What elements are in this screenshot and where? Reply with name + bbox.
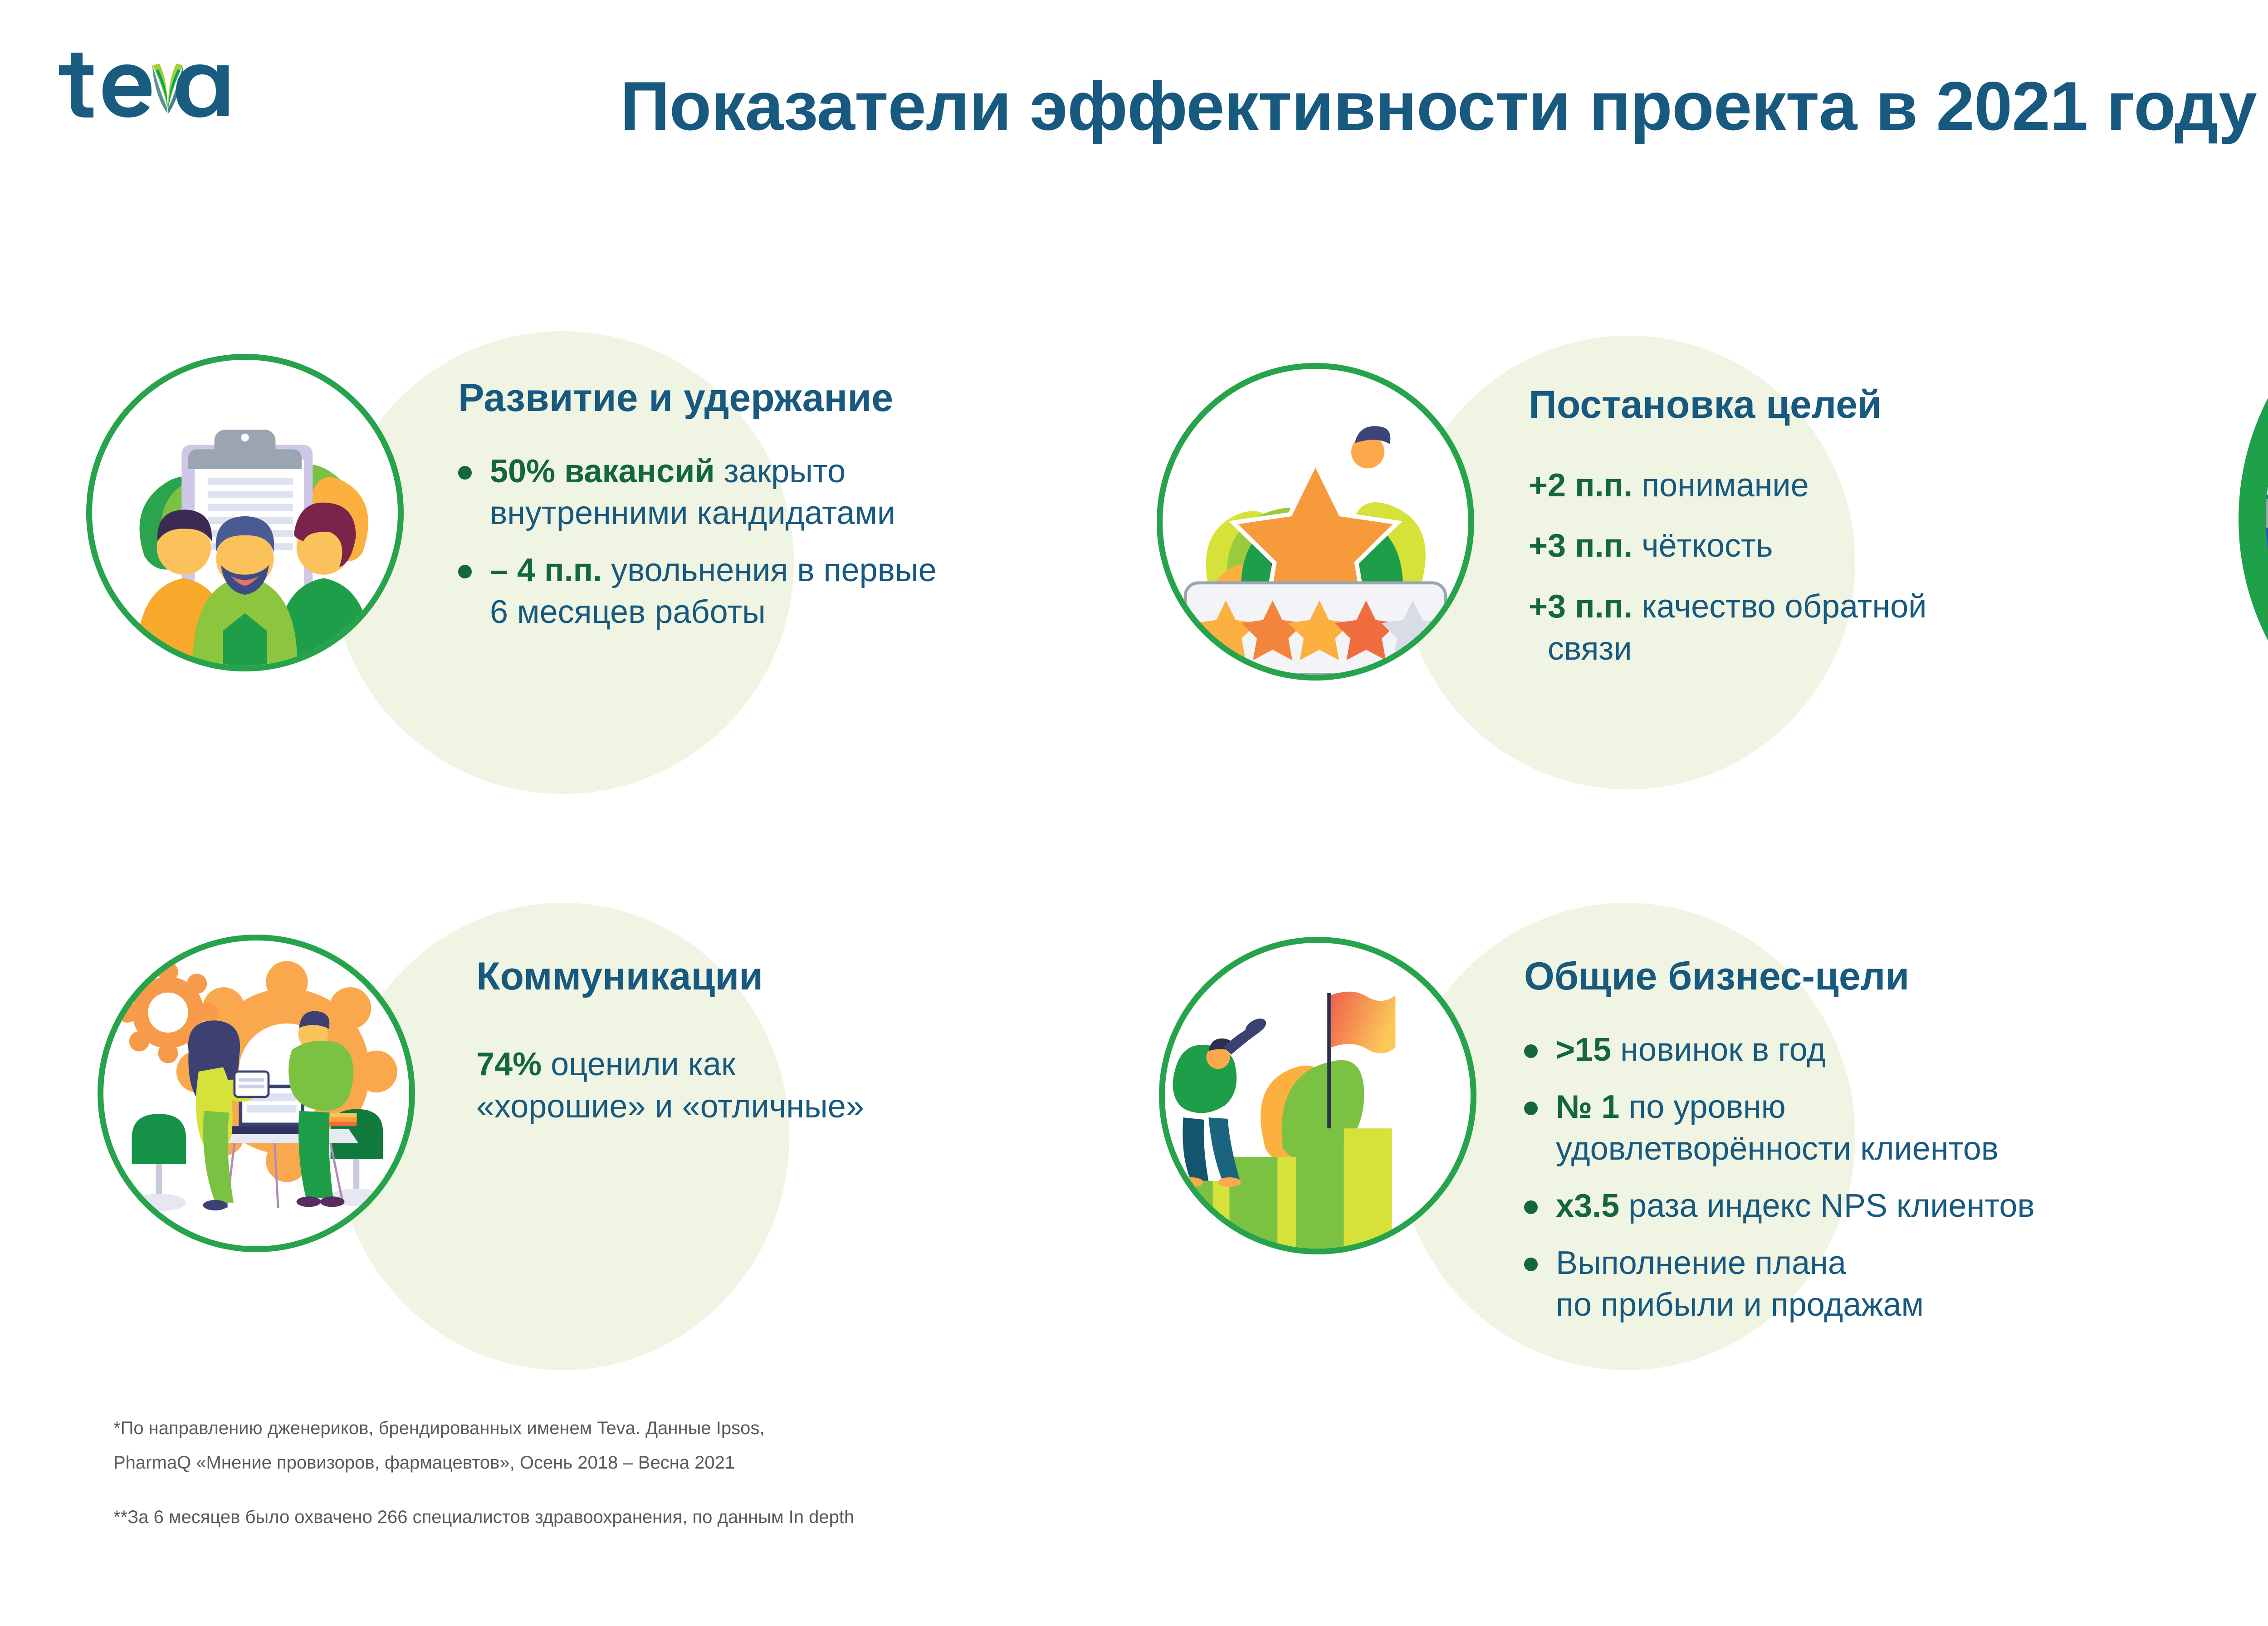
bullet-highlight: – 4 п.п.	[490, 552, 602, 588]
bullet-item: 50% вакансий закрытовнутренними кандидат…	[458, 451, 1139, 534]
metric-item: +2 п.п. понимание	[1529, 465, 2173, 507]
metric-item: 74% оценили как«хорошие» и «отличные»	[476, 1043, 1093, 1128]
bullet-highlight: >15	[1556, 1032, 1611, 1068]
bullet-highlight: № 1	[1556, 1089, 1619, 1125]
bullet-dot-icon	[1524, 1258, 1538, 1271]
bullet-dot-icon	[458, 565, 472, 578]
block-3-title: Коммуникации	[476, 955, 1093, 998]
footnote-line-2: PharmaQ «Мнение провизоров, фармацевтов»…	[113, 1445, 854, 1480]
bullet-dot-icon	[458, 466, 472, 480]
bullet-item: № 1 по уровнюудовлетворённости клиентов	[1524, 1086, 2204, 1170]
metric-rest: оценили как	[542, 1046, 735, 1082]
block-4-bullets: >15 новинок в год № 1 по уровнюудовлетво…	[1524, 1029, 2204, 1326]
bullet-line2: 6 месяцев работы	[490, 594, 766, 630]
footnote-line-1: *По направлению дженериков, брендированн…	[113, 1411, 854, 1445]
block-3-body: Коммуникации 74% оценили как«хорошие» и …	[476, 955, 1093, 1146]
footnote-line-3: **За 6 месяцев было охвачено 266 специал…	[113, 1500, 854, 1534]
block-1-body: Развитие и удержание 50% вакансий закрыт…	[458, 377, 1139, 648]
block-4-title: Общие бизнес-цели	[1524, 955, 2204, 998]
metric-line2: связи	[1529, 628, 1632, 671]
office-team-celebrating-photo	[2182, 213, 2268, 1438]
people-clipboard-icon	[86, 354, 404, 671]
metric-highlight: 74%	[476, 1046, 542, 1082]
bullet-item: x3.5 раза индекс NPS клиентов	[1524, 1185, 2204, 1227]
block-2-body: Постановка целей +2 п.п. понимание +3 п.…	[1529, 383, 2173, 689]
bullet-highlight: 50% вакансий	[490, 453, 715, 490]
telescope-growth-icon	[1159, 937, 1476, 1254]
bullet-rest: закрыто	[715, 453, 846, 490]
metric-highlight: +2 п.п.	[1529, 467, 1633, 504]
block-2-items: +2 п.п. понимание +3 п.п. чёткость +3 п.…	[1529, 465, 2173, 671]
page-title: Показатели эффективности проекта в 2021 …	[0, 70, 2268, 143]
bullet-highlight: x3.5	[1556, 1188, 1619, 1224]
metric-item: +3 п.п. чёткость	[1529, 525, 2173, 568]
bullet-line2: внутренними кандидатами	[490, 495, 895, 531]
metric-highlight: +3 п.п.	[1529, 528, 1633, 564]
keyhole-frame	[2239, 254, 2268, 1392]
slide-root: Key to Growth Показатели эффективности п…	[0, 0, 2268, 1626]
bullet-item: >15 новинок в год	[1524, 1029, 2204, 1071]
bullet-rest: новинок в год	[1611, 1032, 1826, 1068]
bullet-rest: раза индекс NPS клиентов	[1619, 1188, 2035, 1224]
bullet-dot-icon	[1524, 1044, 1538, 1058]
bullet-item: Выполнение планапо прибыли и продажам	[1524, 1242, 2204, 1326]
bullet-rest: увольнения в первые	[602, 552, 937, 588]
metric-rest: качество обратной	[1633, 588, 1926, 625]
metric-item: +3 п.п. качество обратнойсвязи	[1529, 586, 2173, 671]
bullet-line2: удовлетворённости клиентов	[1556, 1131, 1999, 1167]
metric-highlight: +3 п.п.	[1529, 588, 1633, 625]
footnotes: *По направлению дженериков, брендированн…	[113, 1411, 854, 1534]
metric-line2: «хорошие» и «отличные»	[476, 1088, 864, 1125]
bullet-line2: по прибыли и продажам	[1556, 1287, 1924, 1323]
bullet-rest: Выполнение плана	[1556, 1245, 1846, 1281]
bullet-item: – 4 п.п. увольнения в первые6 месяцев ра…	[458, 549, 1139, 633]
block-3-items: 74% оценили как«хорошие» и «отличные»	[476, 1043, 1093, 1128]
metric-rest: понимание	[1633, 467, 1809, 504]
block-4-body: Общие бизнес-цели >15 новинок в год № 1 …	[1524, 955, 2204, 1342]
metric-rest: чёткость	[1633, 528, 1773, 564]
block-1-bullets: 50% вакансий закрытовнутренними кандидат…	[458, 451, 1139, 633]
teamwork-gears-icon	[98, 935, 415, 1252]
block-2-title: Постановка целей	[1529, 383, 2173, 426]
bullet-dot-icon	[1524, 1102, 1538, 1115]
bullet-rest: по уровню	[1619, 1089, 1785, 1125]
bullet-dot-icon	[1524, 1200, 1538, 1214]
star-rating-icon	[1157, 363, 1474, 681]
block-1-title: Развитие и удержание	[458, 377, 1139, 420]
